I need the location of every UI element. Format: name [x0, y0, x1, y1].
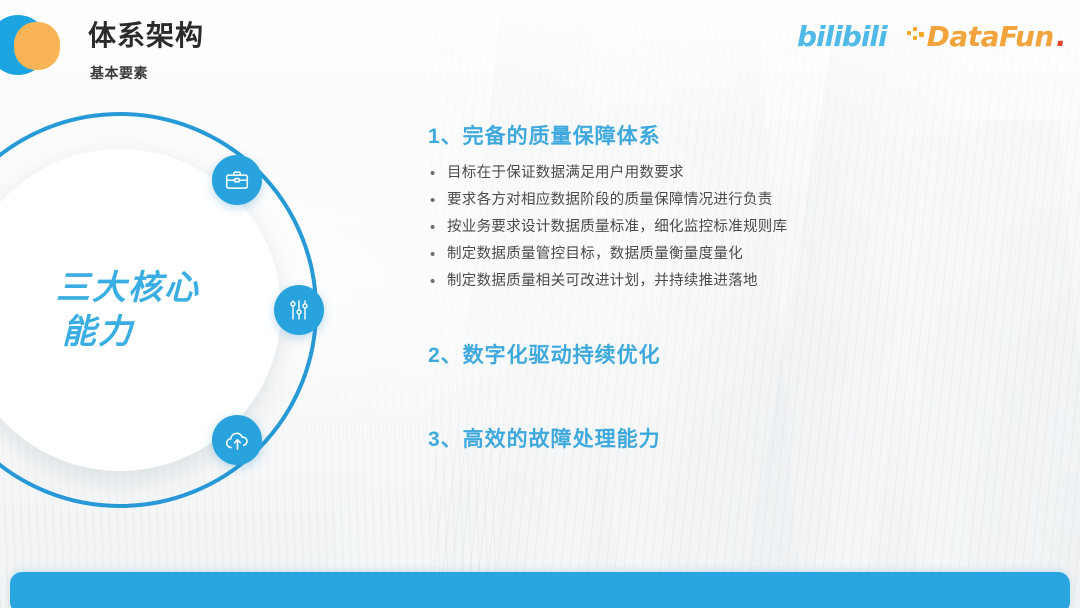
section-heading-2: 2、数字化驱动持续优化 — [428, 339, 1028, 369]
logo-rounded-square-shape — [14, 22, 60, 70]
section-bullets-1: 目标在于保证数据满足用户用数要求 要求各方对相应数据阶段的质量保障情况进行负责 … — [428, 160, 1028, 295]
list-item: 目标在于保证数据满足用户用数要求 — [428, 160, 1028, 187]
core-capabilities-diagram: 三大核心 能力 — [0, 112, 318, 508]
diagram-center-label: 三大核心 能力 — [40, 266, 200, 354]
diagram-center-line-2: 能力 — [56, 310, 200, 354]
slide-canvas: 体系架构 基本要素 bilibili DataFun . 三大核心 能力 — [0, 0, 1080, 608]
list-item: 要求各方对相应数据阶段的质量保障情况进行负责 — [428, 187, 1028, 214]
cloud-upload-icon — [224, 427, 251, 454]
diagram-center-line-1: 三大核心 — [56, 269, 200, 307]
content-column: 1、完备的质量保障体系 目标在于保证数据满足用户用数要求 要求各方对相应数据阶段… — [428, 120, 1028, 463]
list-item: 制定数据质量相关可改进计划，并持续推进落地 — [428, 268, 1028, 295]
page-subtitle: 基本要素 — [90, 63, 204, 83]
datafun-dots-icon — [907, 27, 925, 47]
diagram-node-cloud-upload[interactable] — [212, 415, 262, 465]
list-item: 按业务要求设计数据质量标准，细化监控标准规则库 — [428, 214, 1028, 241]
section-heading-1: 1、完备的质量保障体系 — [428, 120, 1028, 150]
datafun-logo: DataFun . — [907, 20, 1066, 53]
brand-logo-row: bilibili DataFun . — [797, 20, 1066, 53]
sliders-icon — [287, 298, 311, 322]
section-heading-3: 3、高效的故障处理能力 — [428, 423, 1028, 453]
diagram-node-toolbox[interactable] — [212, 155, 262, 205]
header-title-block: 体系架构 基本要素 — [88, 20, 204, 83]
toolbox-icon — [224, 167, 250, 193]
bilibili-logo: bilibili — [797, 20, 887, 53]
page-title: 体系架构 — [88, 20, 204, 52]
datafun-period: . — [1056, 20, 1066, 53]
brand-mark-icon — [0, 15, 62, 77]
footer-bar — [10, 572, 1070, 608]
diagram-node-sliders[interactable] — [274, 285, 324, 335]
datafun-wordmark: DataFun — [927, 20, 1054, 53]
list-item: 制定数据质量管控目标，数据质量衡量度量化 — [428, 241, 1028, 268]
